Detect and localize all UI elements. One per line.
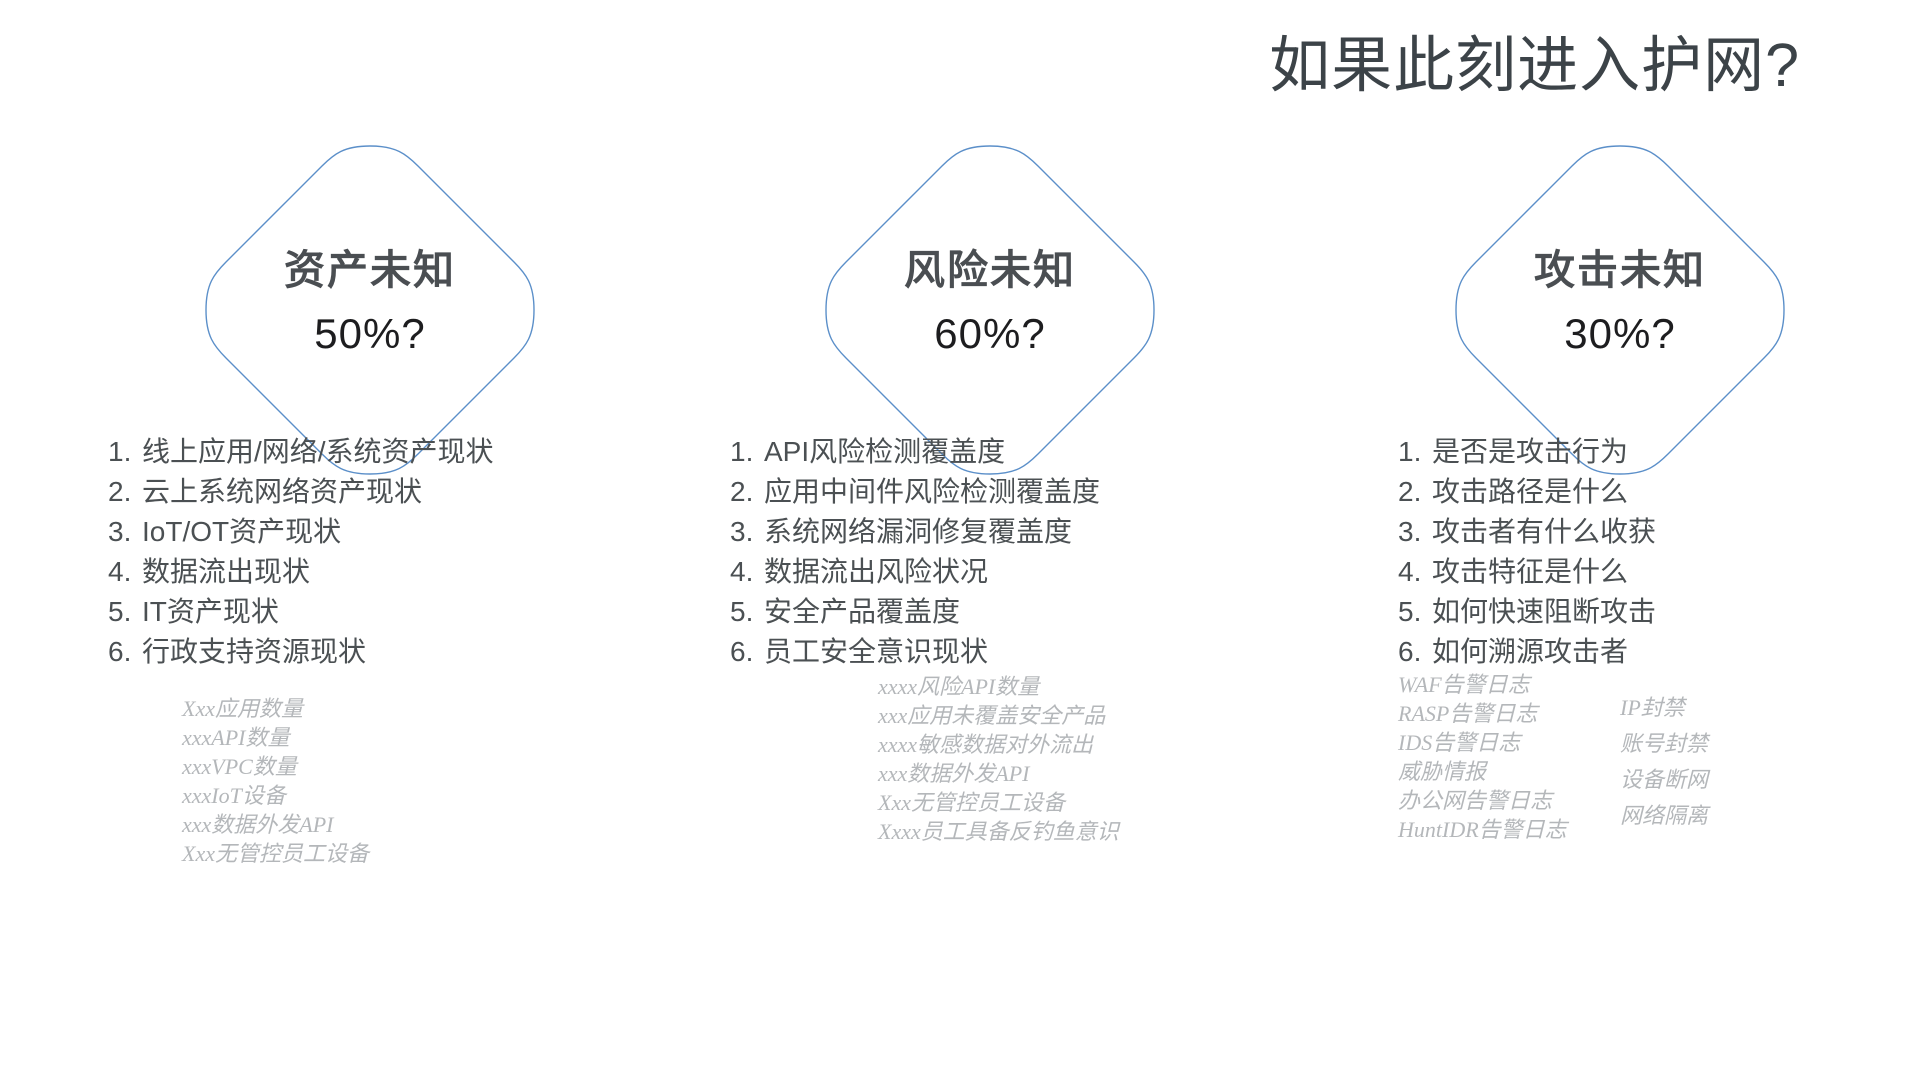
list-item: 6. 员工安全意识现状: [730, 632, 1350, 672]
list-item: 2. 云上系统网络资产现状: [108, 472, 728, 512]
list-item-number: 4.: [730, 552, 764, 592]
notes-attack-actions: IP封禁 账号封禁 设备断网 网络隔离: [1620, 690, 1708, 834]
diamond-badge-asset: 资产未知 50%?: [200, 140, 540, 480]
note-line: HuntIDR告警日志: [1398, 815, 1567, 844]
list-item-label: 如何溯源攻击者: [1432, 632, 1628, 672]
note-line: Xxx无管控员工设备: [182, 839, 369, 868]
list-item-label: API风险检测覆盖度: [764, 432, 1005, 472]
note-line: 账号封禁: [1620, 726, 1708, 762]
note-line: 设备断网: [1620, 762, 1708, 798]
note-line: xxxx风险API数量: [878, 672, 1119, 701]
note-line: xxxVPC数量: [182, 752, 369, 781]
list-item-label: 员工安全意识现状: [764, 632, 988, 672]
list-item: 1. API风险检测覆盖度: [730, 432, 1350, 472]
list-item-number: 1.: [730, 432, 764, 472]
numbered-list-asset: 1. 线上应用/网络/系统资产现状 2. 云上系统网络资产现状 3. IoT/O…: [60, 432, 728, 672]
list-item-number: 1.: [108, 432, 142, 472]
list-item-number: 2.: [1398, 472, 1432, 512]
badge-label: 风险未知: [820, 236, 1160, 296]
list-item: 6. 行政支持资源现状: [108, 632, 728, 672]
numbered-list-risk: 1. API风险检测覆盖度 2. 应用中间件风险检测覆盖度 3. 系统网络漏洞修…: [680, 432, 1350, 672]
list-item: 4. 攻击特征是什么: [1398, 552, 1920, 592]
note-line: xxx数据外发API: [878, 759, 1119, 788]
badge-label: 攻击未知: [1450, 236, 1790, 296]
list-item: 2. 应用中间件风险检测覆盖度: [730, 472, 1350, 512]
slide-canvas: 如果此刻进入护网? 资产未知 50%? 1. 线上应用/网络/系统资产现状 2.…: [0, 0, 1920, 1080]
list-item-number: 1.: [1398, 432, 1432, 472]
list-item-label: IT资产现状: [142, 592, 279, 632]
column-attack-unknown: 攻击未知 30%? 1. 是否是攻击行为 2. 攻击路径是什么 3. 攻击者有什…: [1310, 0, 1920, 1080]
note-line: xxxAPI数量: [182, 723, 369, 752]
column-risk-unknown: 风险未知 60%? 1. API风险检测覆盖度 2. 应用中间件风险检测覆盖度 …: [680, 0, 1300, 1080]
list-item-number: 3.: [108, 512, 142, 552]
numbered-list-attack: 1. 是否是攻击行为 2. 攻击路径是什么 3. 攻击者有什么收获 4. 攻击特…: [1310, 432, 1920, 672]
list-item: 5. 如何快速阻断攻击: [1398, 592, 1920, 632]
list-item-label: 应用中间件风险检测覆盖度: [764, 472, 1100, 512]
column-asset-unknown: 资产未知 50%? 1. 线上应用/网络/系统资产现状 2. 云上系统网络资产现…: [60, 0, 680, 1080]
list-item-number: 3.: [730, 512, 764, 552]
badge-percent: 60%?: [820, 310, 1160, 358]
list-item-label: 攻击者有什么收获: [1432, 512, 1656, 552]
note-line: IDS告警日志: [1398, 728, 1567, 757]
list-item-number: 5.: [1398, 592, 1432, 632]
columns-container: 资产未知 50%? 1. 线上应用/网络/系统资产现状 2. 云上系统网络资产现…: [0, 0, 1920, 1080]
list-item-number: 2.: [108, 472, 142, 512]
list-item: 3. IoT/OT资产现状: [108, 512, 728, 552]
list-item: 4. 数据流出风险状况: [730, 552, 1350, 592]
badge-label: 资产未知: [200, 236, 540, 296]
list-item: 5. IT资产现状: [108, 592, 728, 632]
notes-asset: Xxx应用数量 xxxAPI数量 xxxVPC数量 xxxIoT设备 xxx数据…: [182, 694, 369, 868]
list-item: 2. 攻击路径是什么: [1398, 472, 1920, 512]
list-item: 1. 是否是攻击行为: [1398, 432, 1920, 472]
list-item-number: 3.: [1398, 512, 1432, 552]
diamond-badge-attack: 攻击未知 30%?: [1450, 140, 1790, 480]
note-line: xxx应用未覆盖安全产品: [878, 701, 1119, 730]
list-item-number: 2.: [730, 472, 764, 512]
note-line: WAF告警日志: [1398, 670, 1567, 699]
list-item: 3. 系统网络漏洞修复覆盖度: [730, 512, 1350, 552]
note-line: 网络隔离: [1620, 798, 1708, 834]
note-line: 办公网告警日志: [1398, 786, 1567, 815]
note-line: xxx数据外发API: [182, 810, 369, 839]
list-item-number: 6.: [730, 632, 764, 672]
list-item: 4. 数据流出现状: [108, 552, 728, 592]
list-item-number: 5.: [730, 592, 764, 632]
notes-attack-logs: WAF告警日志 RASP告警日志 IDS告警日志 威胁情报 办公网告警日志 Hu…: [1398, 670, 1567, 844]
list-item: 6. 如何溯源攻击者: [1398, 632, 1920, 672]
list-item: 3. 攻击者有什么收获: [1398, 512, 1920, 552]
list-item-label: 系统网络漏洞修复覆盖度: [764, 512, 1072, 552]
list-item-label: 数据流出现状: [142, 552, 310, 592]
badge-percent: 30%?: [1450, 310, 1790, 358]
note-line: Xxx无管控员工设备: [878, 788, 1119, 817]
list-item-number: 6.: [108, 632, 142, 672]
note-line: 威胁情报: [1398, 757, 1567, 786]
notes-risk: xxxx风险API数量 xxx应用未覆盖安全产品 xxxx敏感数据对外流出 xx…: [878, 672, 1119, 846]
list-item-label: 云上系统网络资产现状: [142, 472, 422, 512]
list-item-number: 4.: [108, 552, 142, 592]
list-item-label: 如何快速阻断攻击: [1432, 592, 1656, 632]
list-item-label: 攻击特征是什么: [1432, 552, 1628, 592]
note-line: IP封禁: [1620, 690, 1708, 726]
note-line: xxxIoT设备: [182, 781, 369, 810]
list-item-number: 5.: [108, 592, 142, 632]
list-item-label: 是否是攻击行为: [1432, 432, 1628, 472]
list-item-number: 4.: [1398, 552, 1432, 592]
list-item-label: 行政支持资源现状: [142, 632, 366, 672]
note-line: xxxx敏感数据对外流出: [878, 730, 1119, 759]
list-item-label: 线上应用/网络/系统资产现状: [142, 432, 494, 472]
diamond-badge-risk: 风险未知 60%?: [820, 140, 1160, 480]
list-item-label: 攻击路径是什么: [1432, 472, 1628, 512]
note-line: RASP告警日志: [1398, 699, 1567, 728]
list-item: 5. 安全产品覆盖度: [730, 592, 1350, 632]
list-item-label: 安全产品覆盖度: [764, 592, 960, 632]
list-item-label: 数据流出风险状况: [764, 552, 988, 592]
note-line: Xxxx员工具备反钓鱼意识: [878, 817, 1119, 846]
list-item-number: 6.: [1398, 632, 1432, 672]
list-item-label: IoT/OT资产现状: [142, 512, 341, 552]
badge-percent: 50%?: [200, 310, 540, 358]
list-item: 1. 线上应用/网络/系统资产现状: [108, 432, 728, 472]
note-line: Xxx应用数量: [182, 694, 369, 723]
